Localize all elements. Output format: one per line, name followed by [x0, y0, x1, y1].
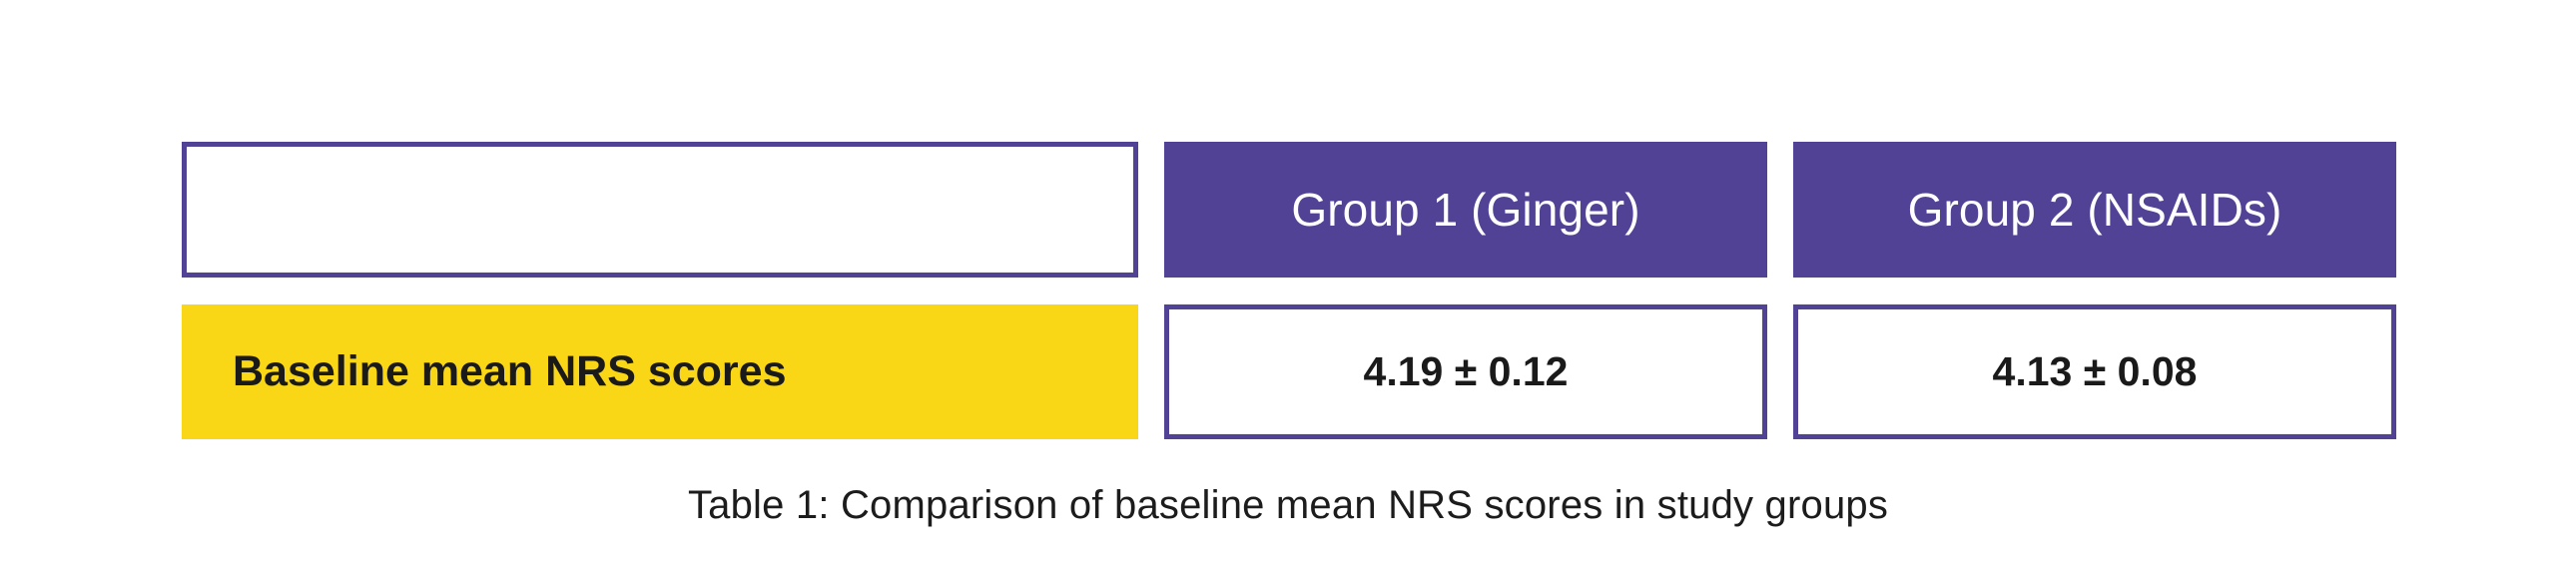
data-cell-group-2: 4.13 ± 0.08 — [1793, 304, 2396, 439]
header-cell-group-1: Group 1 (Ginger) — [1164, 142, 1767, 278]
header-cell-group-1-label: Group 1 (Ginger) — [1291, 185, 1639, 236]
header-cell-group-2-label: Group 2 (NSAIDs) — [1908, 185, 2282, 236]
row-header-label: Baseline mean NRS scores — [233, 348, 787, 395]
data-cell-group-1: 4.19 ± 0.12 — [1164, 304, 1767, 439]
figure-root: Group 1 (Ginger) Group 2 (NSAIDs) Baseli… — [0, 0, 2576, 575]
table-caption: Table 1: Comparison of baseline mean NRS… — [0, 481, 2576, 529]
table-header-row: Group 1 (Ginger) Group 2 (NSAIDs) — [182, 142, 2396, 278]
data-cell-group-1-value: 4.19 ± 0.12 — [1364, 349, 1569, 394]
row-divider-gap — [182, 278, 2396, 304]
table-row: Baseline mean NRS scores 4.19 ± 0.12 4.1… — [182, 304, 2396, 439]
header-cell-group-2: Group 2 (NSAIDs) — [1793, 142, 2396, 278]
data-cell-group-2-value: 4.13 ± 0.08 — [1993, 349, 2198, 394]
row-header-baseline-mean-nrs-scores: Baseline mean NRS scores — [182, 304, 1138, 439]
comparison-table: Group 1 (Ginger) Group 2 (NSAIDs) Baseli… — [182, 142, 2396, 439]
header-cell-metric — [182, 142, 1138, 278]
